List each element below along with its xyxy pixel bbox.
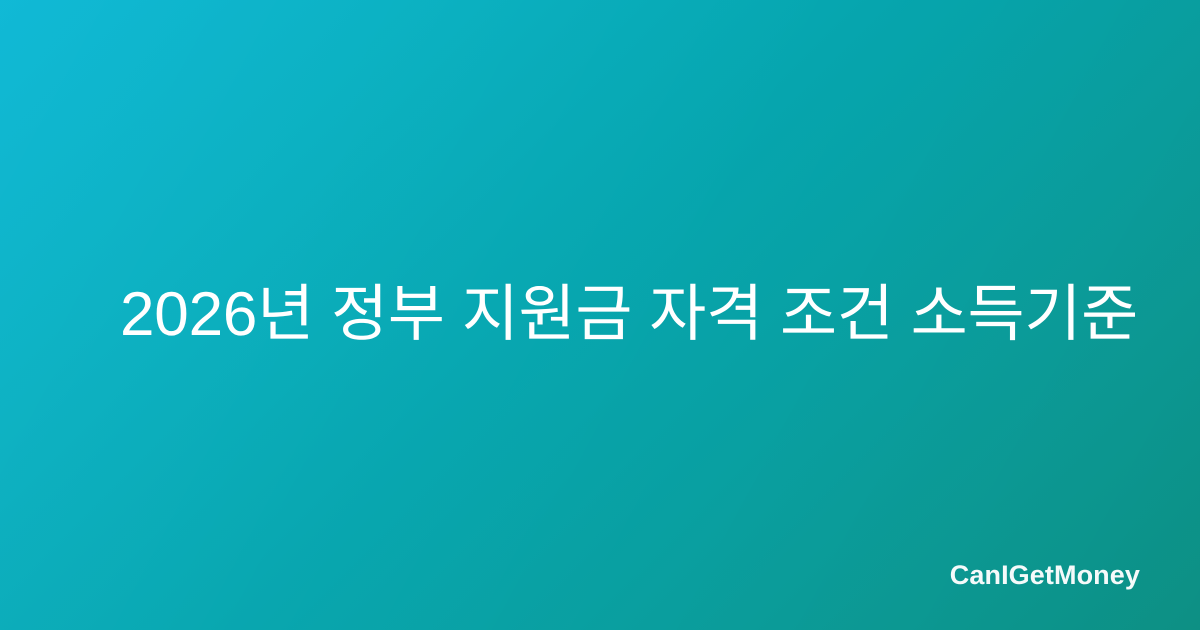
- title-container: 2026년 정부 지원금 자격 조건 소득기준: [60, 277, 1140, 353]
- page-title: 2026년 정부 지원금 자격 조건 소득기준: [120, 277, 1080, 353]
- brand-watermark: CanIGetMoney: [950, 562, 1140, 589]
- og-image-card: 2026년 정부 지원금 자격 조건 소득기준 CanIGetMoney: [0, 0, 1200, 630]
